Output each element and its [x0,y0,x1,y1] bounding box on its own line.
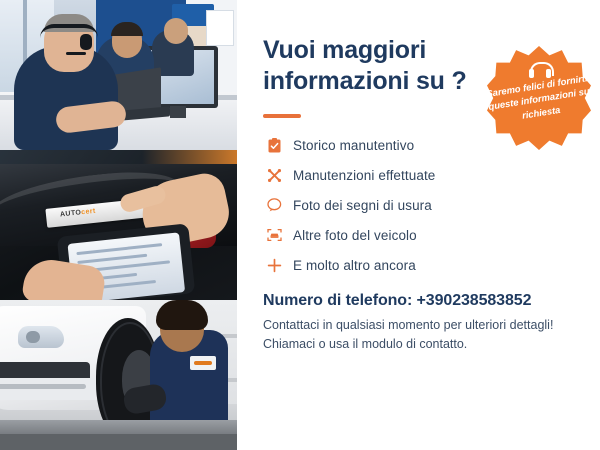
promo-card: AUTOcert Vuoi maggiori informazion [0,0,600,450]
page-title: Vuoi maggiori informazioni su ? [263,35,473,96]
wrench-cross-icon [263,168,285,183]
phone-number[interactable]: Numero di telefono: +390238583852 [263,292,531,310]
feature-label: Foto dei segni di usura [285,198,432,213]
call-center-photo [0,0,237,150]
tire-service-photo [0,300,237,450]
contact-subtext-line1: Contattaci in qualsiasi momento per ulte… [263,316,583,335]
vehicle-inspection-photo: AUTOcert [0,150,237,300]
title-divider [263,114,301,118]
headset-icon [530,62,550,76]
feature-list: Storico manutentivo Manutenzioni effettu… [263,132,553,282]
car-scan-icon [263,228,285,242]
content-panel: Vuoi maggiori informazioni su ? Saremo f… [237,0,600,450]
feature-item-altre-foto[interactable]: Altre foto del veicolo [263,222,553,248]
feature-item-altro[interactable]: E molto altro ancora [263,252,553,278]
speech-bubble-icon [263,198,285,212]
contact-subtext: Contattaci in qualsiasi momento per ulte… [263,316,583,355]
feature-label: E molto altro ancora [285,258,416,273]
contact-subtext-line2: Chiamaci o usa il modulo di contatto. [263,335,583,354]
feature-label: Manutenzioni effettuate [285,168,435,183]
photo-column: AUTOcert [0,0,237,450]
feature-item-foto-usura[interactable]: Foto dei segni di usura [263,192,553,218]
feature-label: Storico manutentivo [285,138,414,153]
feature-item-manutenzioni[interactable]: Manutenzioni effettuate [263,162,553,188]
clipboard-check-icon [263,138,285,153]
plus-icon [263,258,285,273]
feature-item-storico[interactable]: Storico manutentivo [263,132,553,158]
feature-label: Altre foto del veicolo [285,228,417,243]
